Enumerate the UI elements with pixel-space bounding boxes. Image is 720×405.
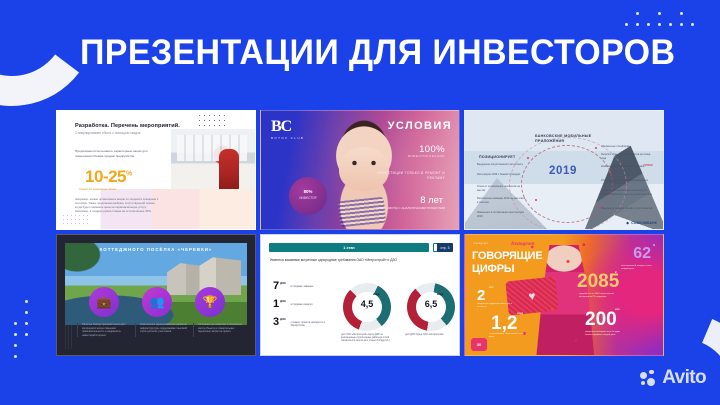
roadmap-item-left: Изменение в оптимизации архитектуры 2019 [477,211,527,218]
dot-grid-top-right [625,12,702,34]
metric-2-caption: ИНВЕСТИЦИИ ТОЛЬКО В РЕМОНТ И РЕКЛАМУ [375,171,445,180]
stat-value-2: 2 [477,287,485,304]
roadmap-item-left: Интеграция 2019 с банком Стандарт [477,173,527,177]
anniversary-badge: 30 [471,338,487,351]
roadmap-item-left: Расширение команды 2019 на два этапа в п… [477,197,527,204]
counter-text: в продаже заёмные [291,285,333,288]
slide-heading: БАНКОВСКИЕ МОБИЛЬНЫЕ ПРИЛОЖЕНИЯ [535,134,605,144]
stat-unit-2085: ₽ [615,271,616,274]
benefit-columns: Наличие благоустроенной земли для загоро… [77,323,245,337]
brand-logo-subtitle: BOTOX CLUB [271,136,304,140]
avito-dots-icon [640,370,657,387]
roadmap-item-right: Комиссия на 2019 банковских ставок [601,165,655,169]
counter-value: 1 [273,299,279,310]
node-dot [595,147,597,149]
counter-row: 3 ДЗО с инвест проекта находится в банкр… [273,317,333,328]
roadmap-item-right: Внедрение сервиса онлайн 2 для клиентов [601,207,655,211]
node-dot [527,157,529,159]
stat-unit-1-2: млрд [517,313,523,315]
slide-footnote: Например, можно организовать акцию со ск… [75,197,159,213]
slide-thumbnail-development[interactable]: Разработка. Перечень мероприятий. Стимул… [56,110,256,230]
roadmap-item-right: Оптимизация процесса сопровождения [601,179,655,183]
slide-lead-text: Имеются взаимные встречные однородные тр… [270,258,420,263]
slide-thumbnail-cottage-village[interactable]: КОТТЕДЖНОГО ПОСЁЛКА «ЧЕРЕВКИ» 💼 👥 🏆 Нали… [56,234,256,356]
year-label: 2019 [549,165,577,177]
stat-caption-2085: средний чек за 2019 год по оценке экспер… [579,293,615,299]
stat-caption-200: аккаунтов посещают хотя бы один бизнес-п… [585,331,621,337]
bubble-label: ИНВЕСТОР [289,196,327,200]
people-group-icon: 👥 [142,287,172,317]
donut-1-value: 4,5 [343,299,391,309]
stat-caption-62: пользователей заходят в сеть каждый день [621,265,657,271]
slide-thumbnail-roadmap[interactable]: БАНКОВСКИЕ МОБИЛЬНЫЕ ПРИЛОЖЕНИЯ ПОЗИЦИОН… [464,110,664,230]
metric-3-caption: ОПЫТ РАБОТЫ С АНАЛОГИЧНЫМИ ПРОЕКТАМИ [375,206,445,210]
briefcase-money-icon: 💼 [89,287,119,317]
slide-subtitle: Стимулирование сбыта с помощью скидок [75,131,140,135]
stage-banner: 1 этап [269,243,429,252]
roadmap-item-left: Внедрение искусственного интеллекта [477,163,527,167]
big-value-number: 10-25 [85,167,126,186]
script-wordmark: Instagram [511,241,535,247]
salon-photo [171,129,255,191]
node-dot [597,205,599,207]
stat-value-200: 200 [585,309,617,331]
slide-thumbnail-talking-numbers[interactable]: ♥ Instagram Instagram ГОВОРЯЩИЕ ЦИФРЫ 62… [464,234,664,356]
counter-value: 3 [273,317,279,328]
counter-row: 1 ДЗО в продаже инкассо [273,299,333,310]
avito-wordmark: Avito [662,367,706,389]
donut-2-unit: млрд [437,293,443,296]
page-number-badge: стр. 3 [437,243,453,252]
slide-big-value: 10-25% [85,167,132,187]
dot-accent-icon [199,115,229,130]
slide-side-label: ПОЗИЦИОНИРУЕТ [479,155,515,159]
heart-icon: ♥ [505,276,558,315]
investor-bubble: 80% ИНВЕСТОР [289,177,327,215]
brand-logo: BC [271,118,291,136]
benefit-text: Комплексное функциональное развитие инфр… [135,323,187,337]
benefit-text: Сочетание не позволяет в понимании места… [193,323,245,337]
slide-thumbnail-botox-club[interactable]: BC BOTOX CLUB УСЛОВИЯ 100% ИНВЕСТИРОВАНИ… [260,110,460,230]
slide-title-line-1: ГОВОРЯЩИЕ [472,250,543,263]
stat-value-1-2: 1,2 [491,313,517,335]
counter-sup: ДЗО [280,282,286,285]
slide-title: Разработка. Перечень мероприятий. [75,123,180,129]
counter-text: в продаже инкассо [291,303,333,306]
stat-unit-200: млн [615,309,620,311]
node-dot [609,171,611,173]
stat-caption-2: ежедневная аудитория молодых и активных [477,303,513,309]
orbit-ring-inner [521,145,613,223]
stripe-decoration [65,325,73,349]
counter-sup: ДЗО [280,318,286,321]
roadmap-item-right: Запуск и объединение сервисов до конца г… [601,153,655,160]
trophy-icon: 🏆 [195,287,225,317]
dot-accent-icon-2 [63,215,91,227]
counter-text: с инвест проекта находится в банкротстве [291,321,333,328]
big-value-unit: % [126,170,132,177]
page-title: ПРЕЗЕНТАЦИИ ДЛЯ ИНВЕСТОРОВ [80,32,675,74]
donut-1-caption: долг ОАО «Метрострой» перед ДЗО за выпол… [341,334,397,344]
slide-title-line-2: ЦИФРЫ [472,263,514,275]
slide-body: Предлагаем использовать характерные акци… [75,149,153,158]
metric-3-value: 8 лет [420,195,443,206]
stat-value-2085: 2085 [577,271,619,293]
avito-watermark: Avito [640,367,706,389]
bubble-value: 80% [289,189,327,194]
slide-heading: УСЛОВИЯ [388,120,452,132]
stat-unit-62: % [653,245,655,247]
counter-sup: ДЗО [280,300,286,303]
dot-grid-left [14,300,36,366]
bank-brand-logo: СОВКОМБАНК [626,221,657,225]
slide-gallery: Разработка. Перечень мероприятий. Стимул… [56,110,664,356]
slide-caption: скидки на единичные акции [79,187,116,191]
donut-2-caption: долг ДЗО перед ОАО «Метрострой» [405,334,460,337]
roadmap-item-right: Организация единого места входа для заяв… [601,189,655,196]
neck-graphic [338,197,386,228]
slide-title: КОТТЕДЖНОГО ПОСЁЛКА «ЧЕРЕВКИ» [57,247,255,252]
roadmap-item-left: Отказ от оптимизации процессов на местах [477,185,527,192]
brand-tag: Instagram [473,242,488,245]
roadmap-item-right: Обновление платформы [601,145,655,149]
stat-unit-2: млн [489,287,494,289]
stat-value-62: 62 [633,245,651,263]
donut-1-unit: млрд [373,293,379,296]
stat-caption-1-2: пользователей социальной сети в мире [489,333,525,339]
counter-row: 7 ДЗО в продаже заёмные [273,281,333,292]
benefit-text: Наличие благоустроенной земли для загоро… [77,323,129,337]
slide-thumbnail-stage-1[interactable]: 1 этап ⌂ стр. 3 Имеются взаимные встречн… [260,234,460,356]
donut-2-value: 6,5 [407,299,455,309]
metric-1-caption: ИНВЕСТИРОВАНИЕ [408,154,445,158]
counter-value: 7 [273,281,279,292]
counter-list: 7 ДЗО в продаже заёмные 1 ДЗО в продаже … [273,281,333,335]
node-dot [535,199,537,201]
